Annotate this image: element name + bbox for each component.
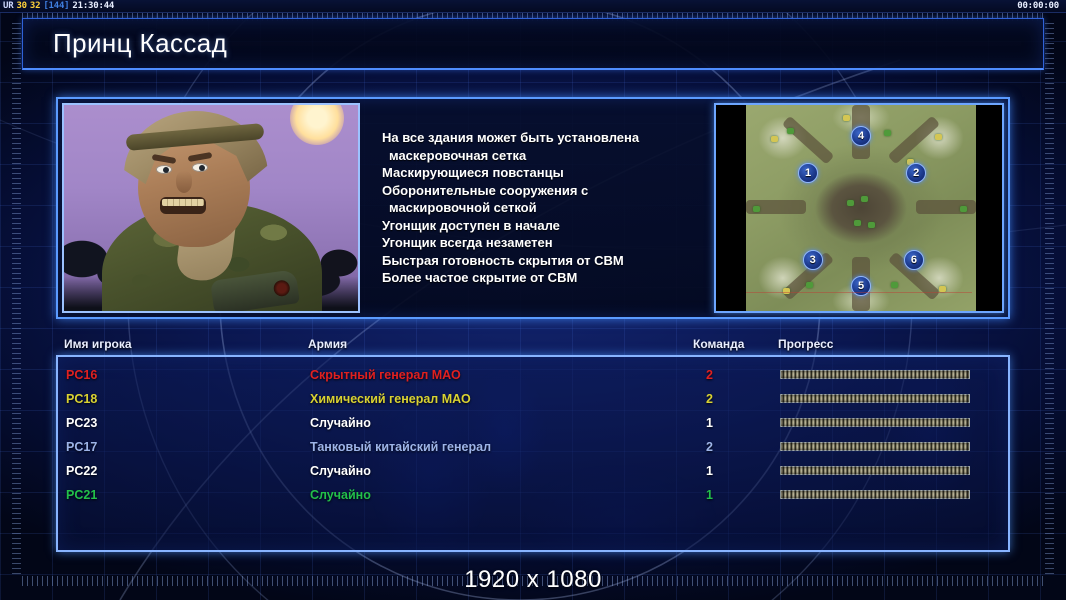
portrait-mouth (160, 197, 206, 214)
map-vegetation (935, 134, 942, 140)
description-line: маскировочной сеткой (382, 199, 708, 217)
map-vegetation (861, 196, 868, 202)
player-team[interactable]: 1 (706, 464, 713, 478)
portrait-teeth (162, 199, 204, 206)
fps-prefix: UR (3, 1, 13, 11)
player-progress-bar (780, 418, 970, 427)
ruler-right-ticks (1045, 22, 1054, 574)
player-name: PC18 (66, 392, 97, 406)
player-team[interactable]: 2 (706, 368, 713, 382)
general-description: На все здания может быть установленамаск… (360, 103, 714, 313)
player-name: PC16 (66, 368, 97, 382)
map-boundary-line (746, 292, 972, 293)
general-portrait (62, 103, 360, 313)
header-army: Армия (308, 337, 347, 351)
player-team[interactable]: 1 (706, 488, 713, 502)
map-start-position-4[interactable]: 4 (851, 126, 871, 146)
player-progress-bar (780, 490, 970, 499)
table-row[interactable]: PC17Танковый китайский генерал2 (58, 435, 1008, 459)
map-vegetation (843, 115, 850, 121)
map-start-position-3[interactable]: 3 (803, 250, 823, 270)
map-terrain: 123456 (746, 105, 976, 311)
player-team[interactable]: 2 (706, 440, 713, 454)
player-army[interactable]: Скрытный генерал МАО (310, 368, 461, 382)
table-column-headers: Имя игрока Армия Команда Прогресс (56, 337, 1010, 355)
map-vegetation (771, 136, 778, 142)
page-title: Принц Кассад (23, 28, 227, 59)
description-line: маскеровочная сетка (382, 147, 708, 165)
map-vegetation (787, 128, 794, 134)
player-team[interactable]: 1 (706, 416, 713, 430)
map-start-position-1[interactable]: 1 (798, 163, 818, 183)
map-vegetation (753, 206, 760, 212)
description-line: Маскирующиеся повстанцы (382, 164, 708, 182)
ruler-left-ticks (12, 22, 21, 574)
description-line: Более частое скрытие от СВМ (382, 269, 708, 287)
fps-bracket: [144] (43, 1, 69, 11)
map-vegetation (847, 200, 854, 206)
map-road (782, 115, 835, 164)
player-progress-bar (780, 466, 970, 475)
header-progress: Прогресс (778, 337, 833, 351)
map-start-position-2[interactable]: 2 (906, 163, 926, 183)
fps-counter: UR 30 32 [144] 21:30:44 (3, 1, 114, 11)
table-row[interactable]: PC22Случайно1 (58, 459, 1008, 483)
session-time: 21:30:44 (72, 1, 114, 11)
description-line: На все здания может быть установлена (382, 129, 708, 147)
map-vegetation (960, 206, 967, 212)
player-name: PC23 (66, 416, 97, 430)
player-army[interactable]: Танковый китайский генерал (310, 440, 491, 454)
map-vegetation (891, 282, 898, 288)
resolution-label: 1920 x 1080 (0, 566, 1066, 594)
player-team[interactable]: 2 (706, 392, 713, 406)
fps-value: 30 (16, 1, 26, 11)
map-vegetation (884, 130, 891, 136)
skirmish-setup-screen: UR 30 32 [144] 21:30:44 00:00:00 Принц К… (0, 0, 1066, 600)
description-line: Угонщик доступен в начале (382, 217, 708, 235)
player-rows: PC16Скрытный генерал МАО2PC18Химический … (58, 363, 1008, 507)
map-road (888, 115, 941, 164)
header-player-name: Имя игрока (64, 337, 132, 351)
player-progress-bar (780, 370, 970, 379)
player-name: PC22 (66, 464, 97, 478)
map-vegetation (868, 222, 875, 228)
description-line: Угонщик всегда незаметен (382, 234, 708, 252)
player-army[interactable]: Случайно (310, 488, 371, 502)
table-row[interactable]: PC18Химический генерал МАО2 (58, 387, 1008, 411)
player-name: PC17 (66, 440, 97, 454)
general-info-panel: На все здания может быть установленамаск… (56, 97, 1010, 319)
table-row[interactable]: PC16Скрытный генерал МАО2 (58, 363, 1008, 387)
player-progress-bar (780, 394, 970, 403)
title-panel: Принц Кассад (22, 18, 1044, 70)
table-row[interactable]: PC23Случайно1 (58, 411, 1008, 435)
player-table-panel: PC16Скрытный генерал МАО2PC18Химический … (56, 355, 1010, 552)
description-line: Быстрая готовность скрытия от СВМ (382, 252, 708, 270)
player-army[interactable]: Случайно (310, 464, 371, 478)
map-preview[interactable]: 123456 (714, 103, 1004, 313)
player-name: PC21 (66, 488, 97, 502)
description-line: Оборонительные сооружения с (382, 182, 708, 200)
portrait-eye-left (156, 165, 172, 174)
player-army[interactable]: Химический генерал МАО (310, 392, 471, 406)
sun-icon (290, 103, 344, 145)
top-status-bar: UR 30 32 [144] 21:30:44 00:00:00 (0, 0, 1066, 13)
player-army[interactable]: Случайно (310, 416, 371, 430)
fps-value-2: 32 (30, 1, 40, 11)
map-vegetation (806, 282, 813, 288)
table-row[interactable]: PC21Случайно1 (58, 483, 1008, 507)
header-team: Команда (693, 337, 744, 351)
map-start-position-6[interactable]: 6 (904, 250, 924, 270)
player-progress-bar (780, 442, 970, 451)
portrait-nose (176, 171, 192, 193)
map-road (916, 200, 976, 214)
portrait-eye-right (192, 163, 208, 172)
map-vegetation (854, 220, 861, 226)
game-clock: 00:00:00 (1017, 1, 1059, 11)
